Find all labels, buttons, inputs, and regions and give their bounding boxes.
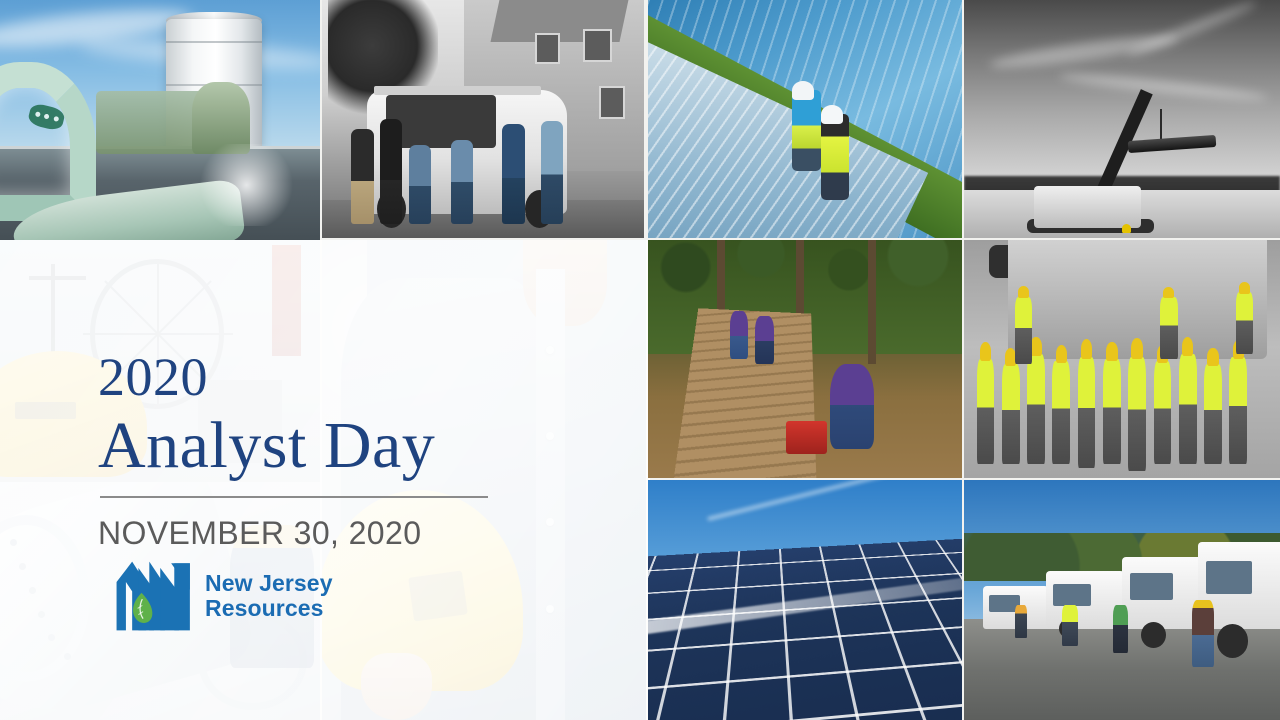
logo-wordmark: New Jersey Resources: [205, 571, 333, 621]
njr-n-leaf-icon: [115, 558, 193, 634]
photo-solar-panels: [648, 480, 962, 720]
photo-crew-group: [964, 240, 1280, 478]
event-date: NOVEMBER 30, 2020: [98, 514, 638, 552]
logo-line-1: New Jersey: [205, 571, 333, 596]
photo-service-van-crew: [322, 0, 644, 238]
title-divider: [100, 496, 488, 498]
photo-solar-farm: [648, 0, 962, 238]
photo-truck-fleet: [964, 480, 1280, 720]
analyst-day-slide: 2020 Analyst Day NOVEMBER 30, 2020 New J…: [0, 0, 1280, 720]
company-logo: New Jersey Resources: [115, 558, 333, 634]
page-title: Analyst Day: [98, 408, 638, 484]
logo-line-2: Resources: [205, 596, 333, 621]
title-block: 2020 Analyst Day NOVEMBER 30, 2020: [98, 348, 638, 552]
photo-lng-plant: [0, 0, 320, 240]
photo-crane-pipe: [964, 0, 1280, 238]
photo-boardwalk-volunteers: [648, 240, 962, 478]
title-year: 2020: [98, 348, 638, 406]
